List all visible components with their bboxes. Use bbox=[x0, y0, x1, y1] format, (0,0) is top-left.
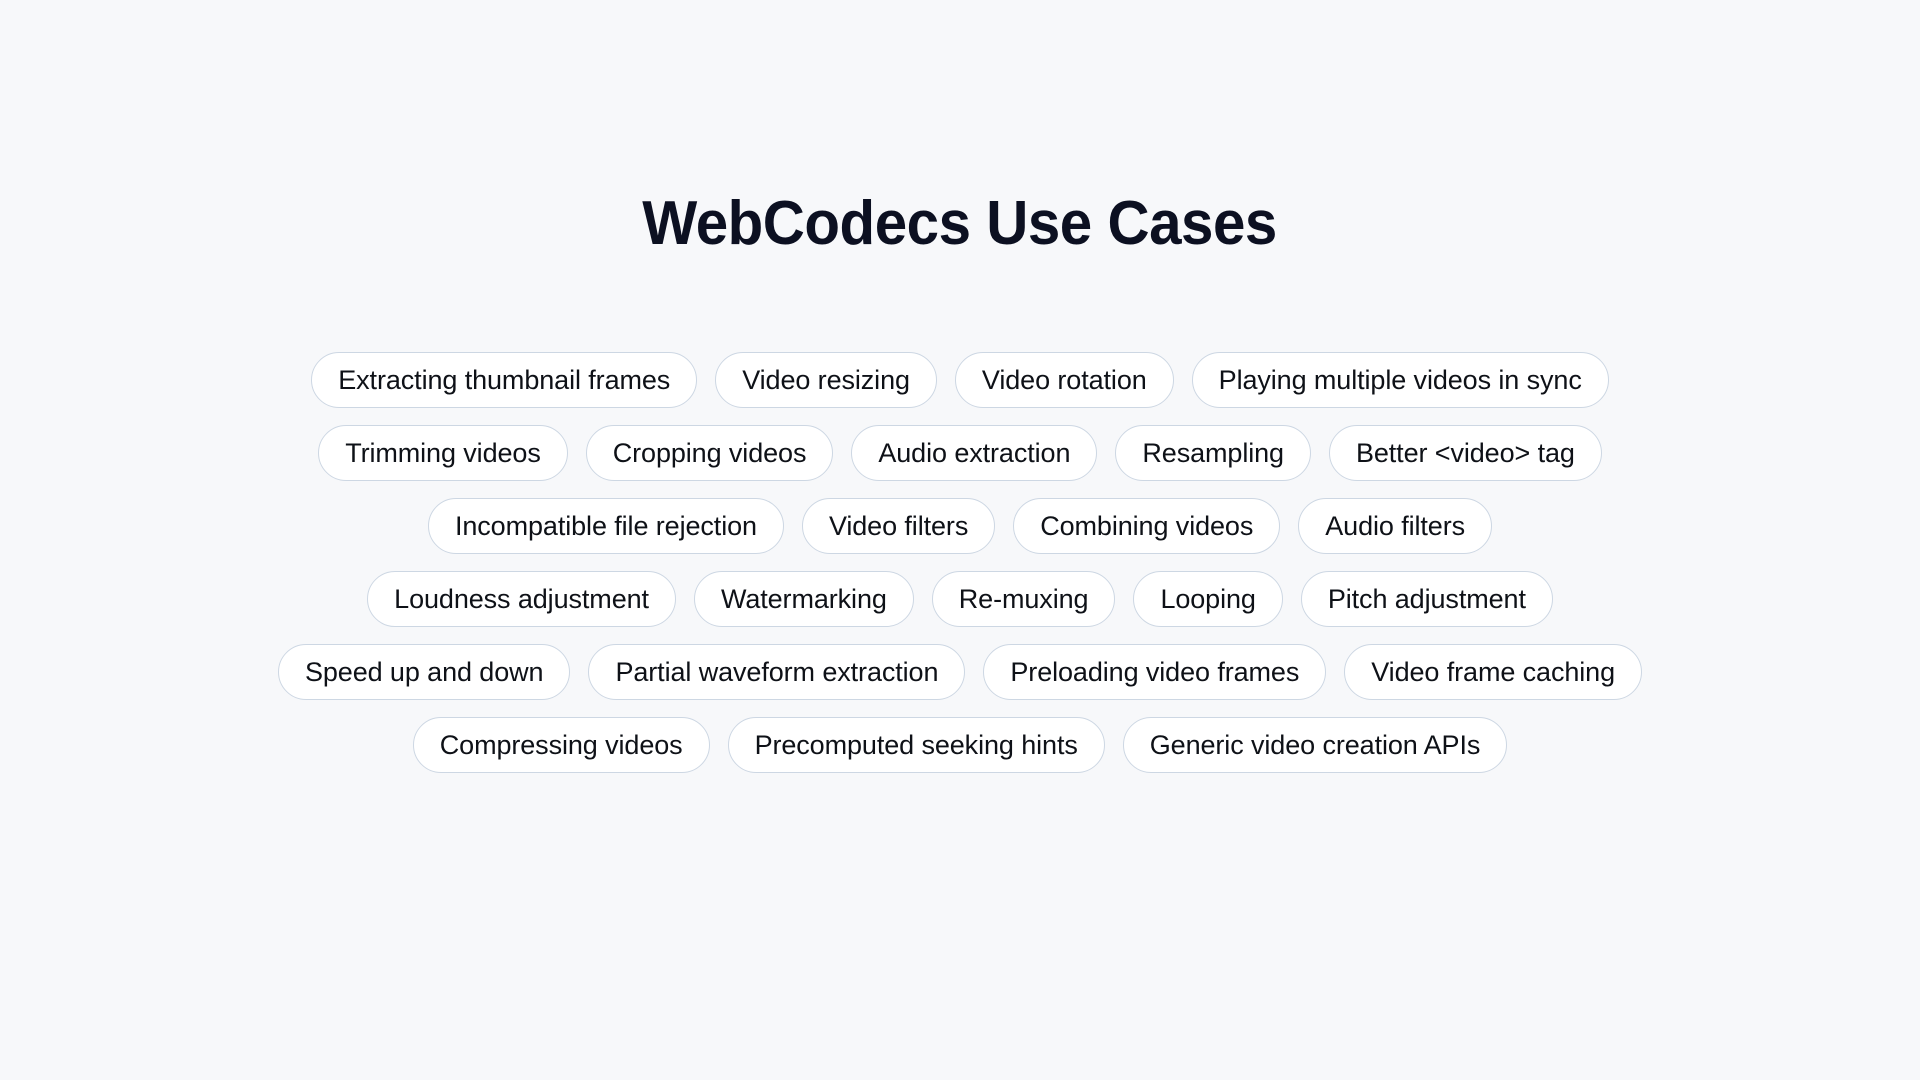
tag-pill[interactable]: Trimming videos bbox=[318, 425, 568, 481]
tag-pill[interactable]: Video resizing bbox=[715, 352, 937, 408]
tag-pill[interactable]: Audio filters bbox=[1298, 498, 1492, 554]
tag-pill[interactable]: Compressing videos bbox=[413, 717, 710, 773]
tag-pill[interactable]: Pitch adjustment bbox=[1301, 571, 1553, 627]
tag-pill[interactable]: Video frame caching bbox=[1344, 644, 1642, 700]
tag-pill[interactable]: Combining videos bbox=[1013, 498, 1280, 554]
page-title: WebCodecs Use Cases bbox=[643, 193, 1278, 255]
tag-pill[interactable]: Watermarking bbox=[694, 571, 914, 627]
tag-row: Compressing videosPrecomputed seeking hi… bbox=[413, 717, 1508, 773]
tag-pill[interactable]: Loudness adjustment bbox=[367, 571, 676, 627]
tag-pill[interactable]: Speed up and down bbox=[278, 644, 571, 700]
page-root: WebCodecs Use Cases Extracting thumbnail… bbox=[0, 0, 1920, 1080]
tag-pill[interactable]: Incompatible file rejection bbox=[428, 498, 784, 554]
tag-pill[interactable]: Precomputed seeking hints bbox=[728, 717, 1105, 773]
tag-pill[interactable]: Preloading video frames bbox=[983, 644, 1326, 700]
tag-pill[interactable]: Better <video> tag bbox=[1329, 425, 1602, 481]
tag-row: Loudness adjustmentWatermarkingRe-muxing… bbox=[367, 571, 1553, 627]
tag-pill[interactable]: Audio extraction bbox=[851, 425, 1097, 481]
tag-pill[interactable]: Extracting thumbnail frames bbox=[311, 352, 697, 408]
tag-pill[interactable]: Looping bbox=[1133, 571, 1282, 627]
tag-pill[interactable]: Cropping videos bbox=[586, 425, 834, 481]
tag-pill[interactable]: Generic video creation APIs bbox=[1123, 717, 1507, 773]
tag-row: Trimming videosCropping videosAudio extr… bbox=[318, 425, 1602, 481]
tag-pill[interactable]: Playing multiple videos in sync bbox=[1192, 352, 1609, 408]
tag-pill[interactable]: Resampling bbox=[1115, 425, 1311, 481]
tag-pill[interactable]: Partial waveform extraction bbox=[588, 644, 965, 700]
tag-pill[interactable]: Video rotation bbox=[955, 352, 1174, 408]
tag-cloud: Extracting thumbnail framesVideo resizin… bbox=[150, 352, 1770, 790]
tag-pill[interactable]: Re-muxing bbox=[932, 571, 1116, 627]
tag-row: Extracting thumbnail framesVideo resizin… bbox=[311, 352, 1608, 408]
tag-pill[interactable]: Video filters bbox=[802, 498, 995, 554]
tag-row: Speed up and downPartial waveform extrac… bbox=[278, 644, 1642, 700]
tag-row: Incompatible file rejectionVideo filters… bbox=[428, 498, 1492, 554]
